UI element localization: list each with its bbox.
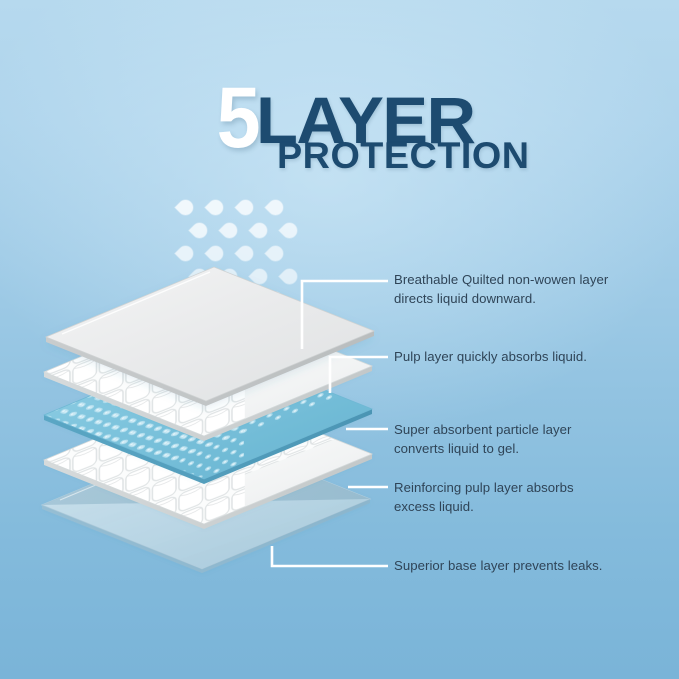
callout-3-line-1: Super absorbent particle layer	[394, 421, 571, 440]
infographic-canvas: 5LAYER PROTECTION	[0, 0, 679, 679]
callout-1-line-1: Breathable Quilted non-wowen layer	[394, 271, 608, 290]
callout-4-line-2: excess liquid.	[394, 498, 574, 517]
callout-label-3: Super absorbent particle layer converts …	[394, 421, 571, 458]
layer-stack-diagram	[0, 0, 679, 679]
callout-2-line-1: Pulp layer quickly absorbs liquid.	[394, 348, 587, 367]
callout-label-1: Breathable Quilted non-wowen layer direc…	[394, 271, 608, 308]
connector-line-5	[272, 546, 388, 566]
callout-label-4: Reinforcing pulp layer absorbs excess li…	[394, 479, 574, 516]
callout-label-2: Pulp layer quickly absorbs liquid.	[394, 348, 587, 367]
callout-5-line-1: Superior base layer prevents leaks.	[394, 557, 602, 576]
callout-3-line-2: converts liquid to gel.	[394, 440, 571, 459]
callout-label-5: Superior base layer prevents leaks.	[394, 557, 602, 576]
callout-4-line-1: Reinforcing pulp layer absorbs	[394, 479, 574, 498]
callout-1-line-2: directs liquid downward.	[394, 290, 608, 309]
